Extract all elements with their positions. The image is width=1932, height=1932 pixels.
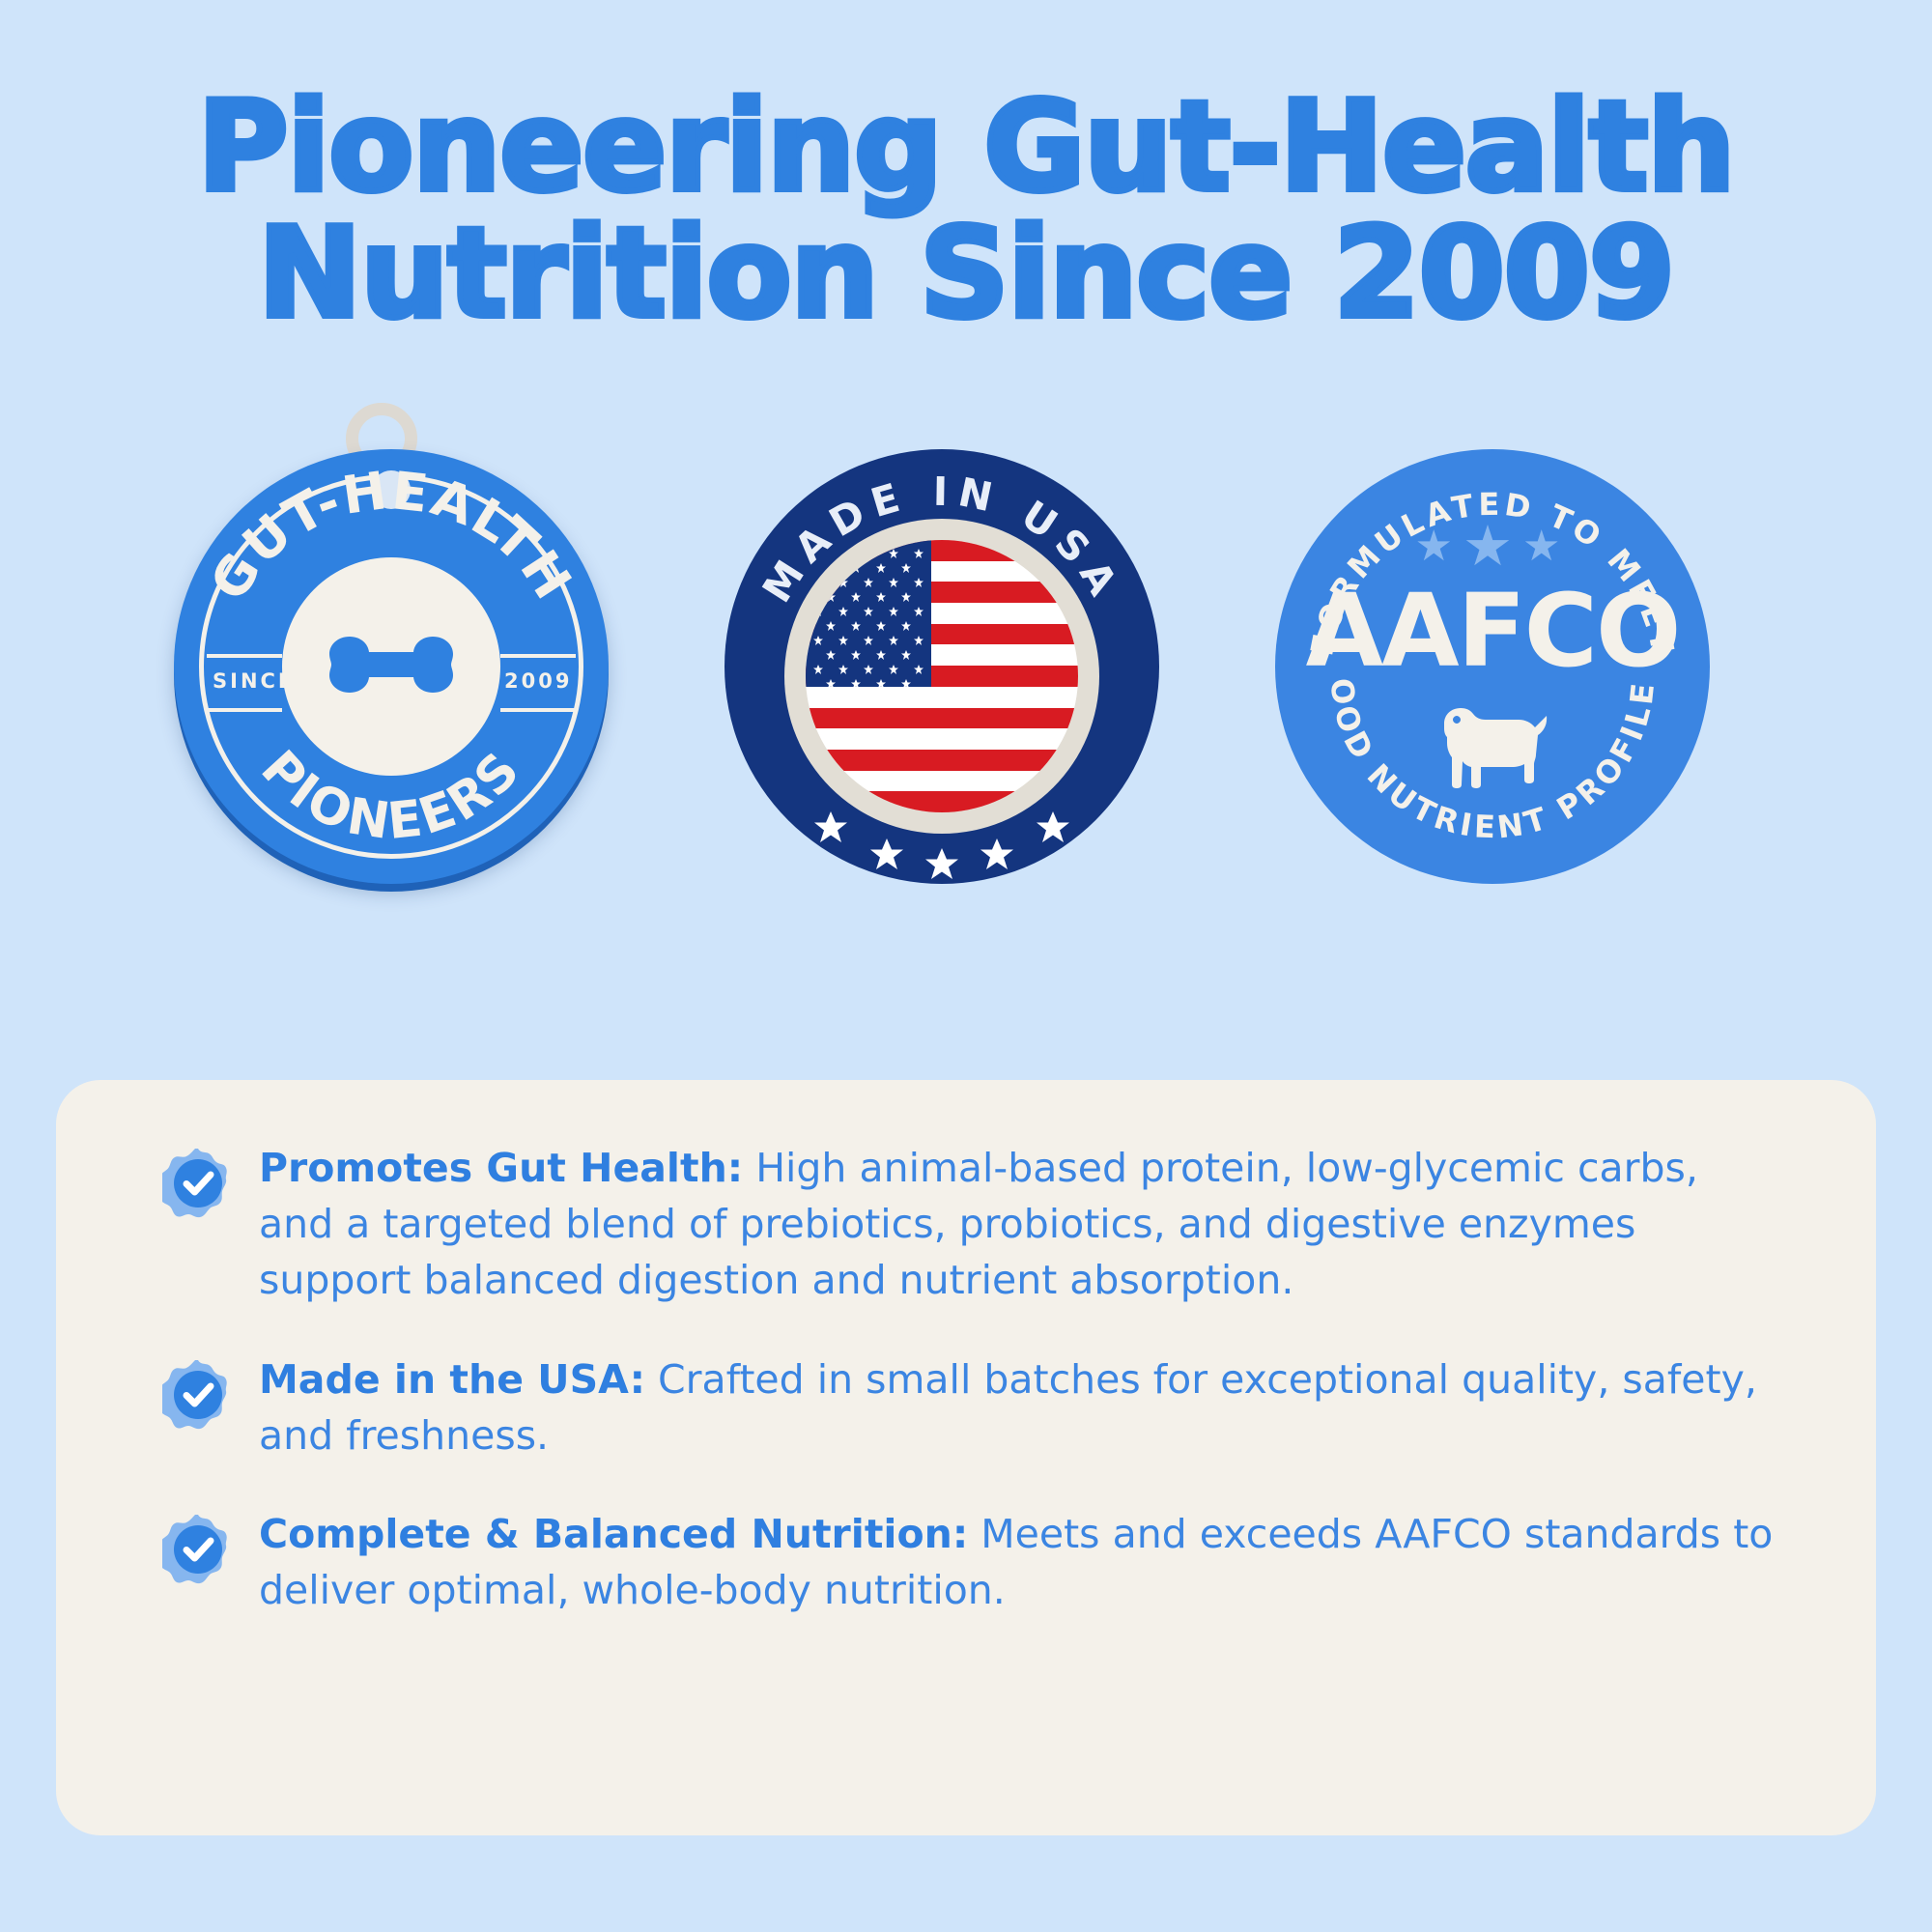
check-badge-icon [162,1514,234,1585]
check-badge-icon [162,1359,234,1431]
svg-text:MADE IN USA: MADE IN USA [753,469,1130,611]
badge-made-in-usa: MADE IN USA [724,440,1159,980]
page-title-line-2: Nutrition Since 2009 [0,212,1932,338]
list-item: Made in the USA: Crafted in small batche… [162,1351,1804,1463]
list-item-text: Promotes Gut Health: High animal-based p… [259,1140,1785,1309]
badge-row: SINCE 2009 GUT-HEALTH PIONEERS [0,440,1932,990]
badge-disc: ★★★ AAFCO FORMULATED TO MEET [1275,449,1710,884]
check-badge-icon [162,1148,234,1219]
page-title-line-1: Pioneering Gut-Health [198,75,1735,219]
list-item-title: Complete & Balanced Nutrition: [259,1511,968,1557]
list-item-text: Complete & Balanced Nutrition: Meets and… [259,1506,1785,1618]
badge-arc-top-text: GUT-HEALTH [198,460,584,611]
list-item-title: Promotes Gut Health: [259,1145,743,1191]
badge-star-row: MADE IN USA [724,459,1159,894]
list-item: Complete & Balanced Nutrition: Meets and… [162,1506,1804,1618]
svg-text:GUT-HEALTH: GUT-HEALTH [198,460,584,611]
badge-arc-text: GUT-HEALTH PIONEERS [174,459,609,894]
list-item-title: Made in the USA: [259,1356,645,1403]
infographic-page: Pioneering Gut-Health Nutrition Since 20… [0,0,1932,1932]
features-list: Promotes Gut Health: High animal-based p… [162,1140,1804,1619]
list-item: Promotes Gut Health: High animal-based p… [162,1140,1804,1309]
badge-aafco: ★★★ AAFCO FORMULATED TO MEET [1275,440,1710,980]
badge-disc: SINCE 2009 GUT-HEALTH PIONEERS [174,449,609,884]
badge-arc-bottom-text: PIONEERS [249,740,532,852]
features-card: Promotes Gut Health: High animal-based p… [56,1080,1876,1835]
badge-disc: MADE IN USA [724,449,1159,884]
badge-arc-top-text: MADE IN USA [753,469,1130,611]
badge-arc-top-text: FORMULATED TO MEET [1303,486,1682,659]
list-item-text: Made in the USA: Crafted in small batche… [259,1351,1785,1463]
svg-text:PIONEERS: PIONEERS [249,740,532,852]
svg-text:FORMULATED TO MEET: FORMULATED TO MEET [1303,486,1682,659]
badge-arc-text: FORMULATED TO MEET FOOD NUTRIENT PROFILE… [1275,459,1710,894]
page-title: Pioneering Gut-Health Nutrition Since 20… [0,85,1932,337]
badge-gut-health-pioneers: SINCE 2009 GUT-HEALTH PIONEERS [174,440,609,980]
